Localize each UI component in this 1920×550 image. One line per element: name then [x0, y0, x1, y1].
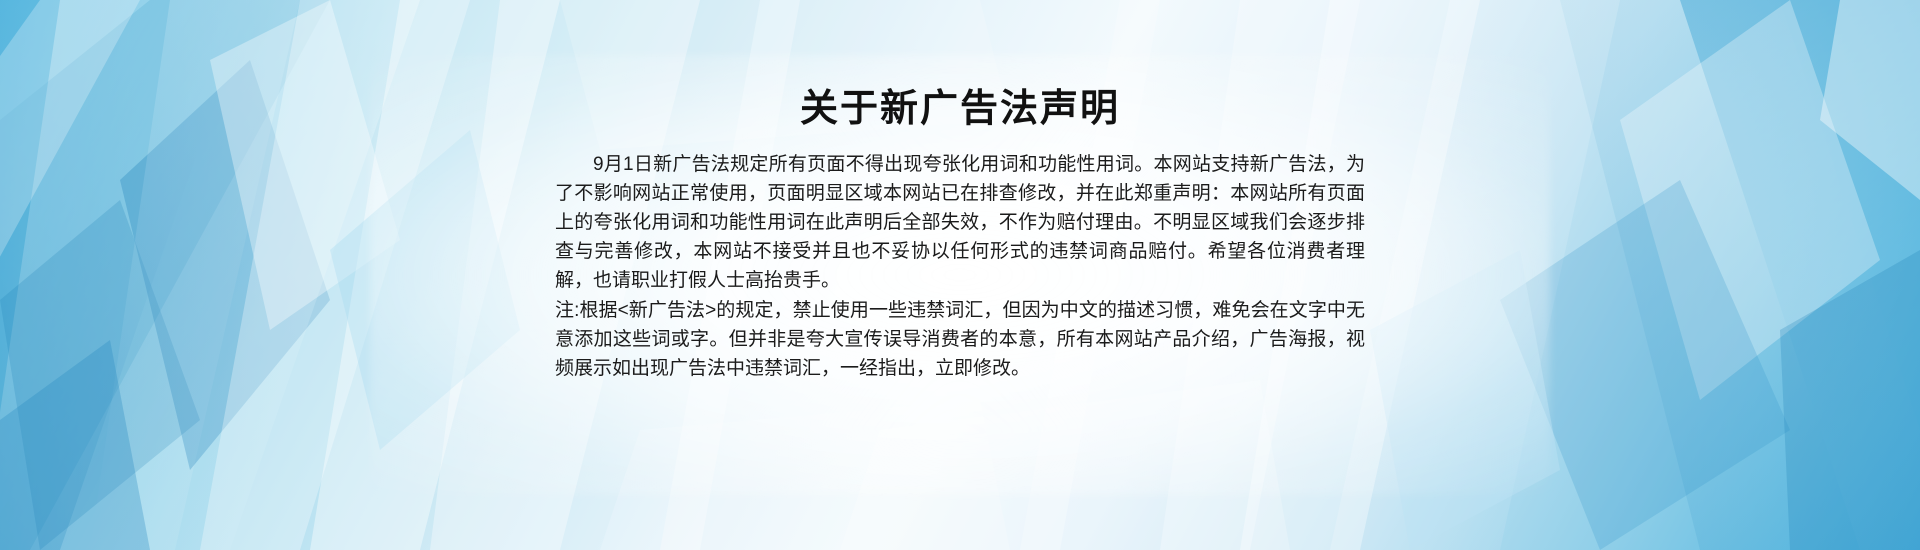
- statement-paragraph-note: 注:根据<新广告法>的规定，禁止使用一些违禁词汇，但因为中文的描述习惯，难免会在…: [555, 296, 1365, 383]
- statement-content: 关于新广告法声明 9月1日新广告法规定所有页面不得出现夸张化用词和功能性用词。本…: [555, 0, 1365, 383]
- statement-paragraph-main: 9月1日新广告法规定所有页面不得出现夸张化用词和功能性用词。本网站支持新广告法，…: [555, 150, 1365, 295]
- page-title: 关于新广告法声明: [555, 86, 1365, 134]
- advertising-law-statement-banner: 关于新广告法声明 9月1日新广告法规定所有页面不得出现夸张化用词和功能性用词。本…: [0, 0, 1920, 550]
